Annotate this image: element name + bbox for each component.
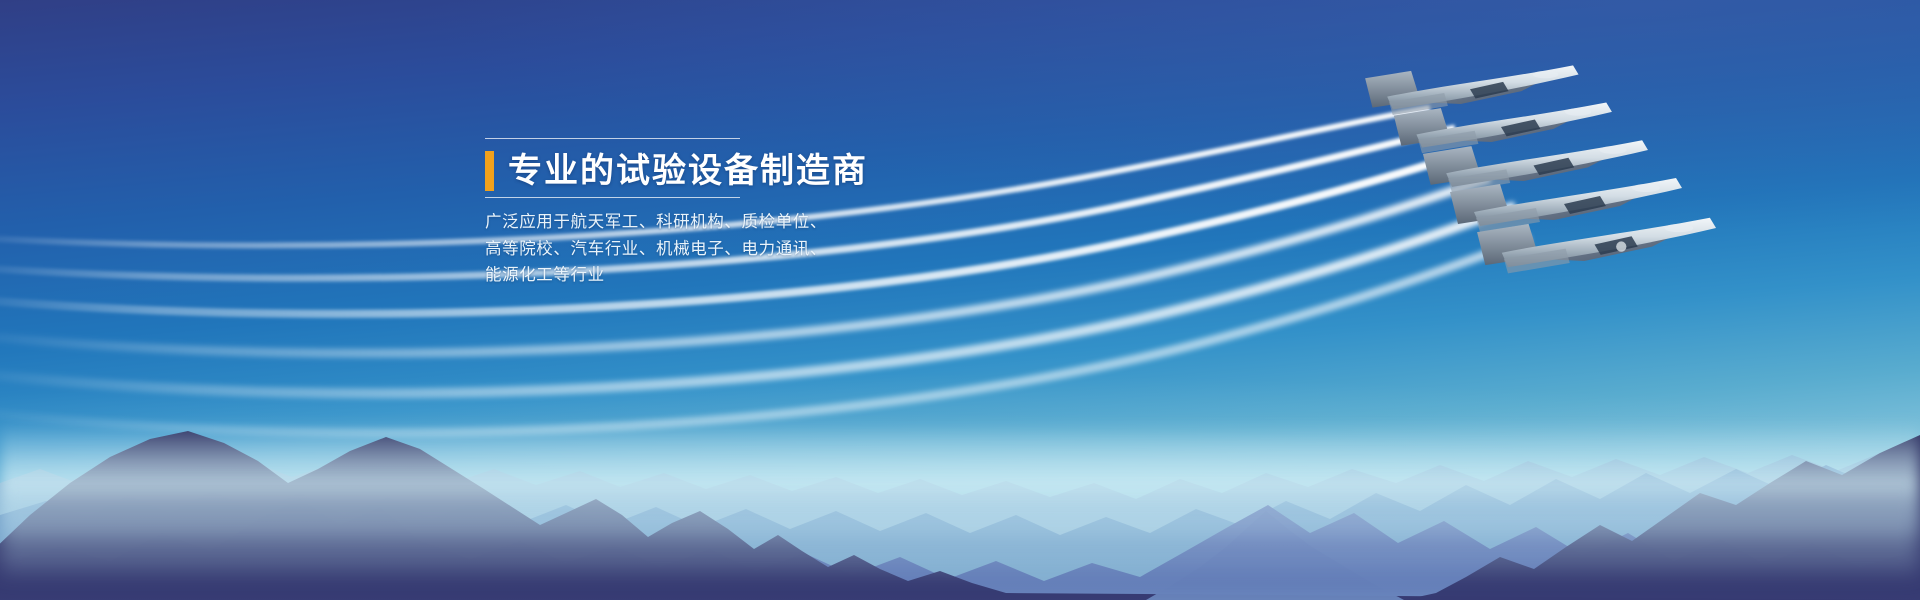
jet-2 [1394, 103, 1612, 154]
jet-3 [1423, 140, 1648, 192]
divider-top [485, 138, 740, 139]
divider-bottom [485, 197, 740, 198]
subtitle-line-1: 广泛应用于航天军工、科研机构、质检单位、 [485, 209, 825, 236]
jet-1 [1365, 65, 1578, 115]
headline-row: 专业的试验设备制造商 [485, 151, 825, 191]
hero-banner: 专业的试验设备制造商 广泛应用于航天军工、科研机构、质检单位、 高等院校、汽车行… [0, 0, 1920, 600]
accent-bar [485, 151, 494, 191]
page-title: 专业的试验设备制造商 [508, 154, 868, 188]
banner-copy: 专业的试验设备制造商 广泛应用于航天军工、科研机构、质检单位、 高等院校、汽车行… [485, 138, 825, 289]
subtitle-line-3: 能源化工等行业 [485, 262, 825, 289]
fighter-jet-formation [1370, 46, 1850, 296]
mountain-range [0, 365, 1920, 600]
subtitle-line-2: 高等院校、汽车行业、机械电子、电力通讯、 [485, 236, 825, 263]
banner-subtitle: 广泛应用于航天军工、科研机构、质检单位、 高等院校、汽车行业、机械电子、电力通讯… [485, 209, 825, 289]
